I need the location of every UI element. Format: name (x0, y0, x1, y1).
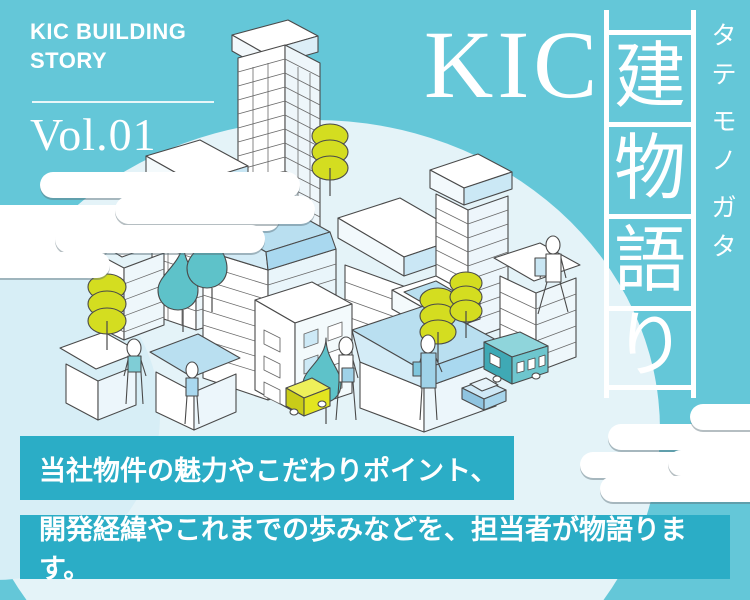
furigana-group: タ テ (702, 24, 746, 88)
furigana-group: ガ タ (702, 196, 746, 260)
title-line-2: STORY (30, 47, 186, 76)
page-title: KIC BUILDING STORY (30, 18, 186, 75)
furigana-char: タ (702, 24, 746, 49)
vertical-title-char: り (609, 302, 691, 390)
volume-label: Vol.01 (30, 108, 157, 161)
cloud-bar (668, 450, 750, 476)
caption-text-2: 開発経緯やこれまでの歩みなどを、担当者が物語ります。 (39, 508, 730, 586)
title-line-1: KIC BUILDING (30, 18, 186, 47)
vertical-title-char: 語 (609, 217, 691, 305)
caption-bar-1: 当社物件の魅力やこだわりポイント、 (20, 436, 514, 500)
caption-bar-2: 開発経緯やこれまでの歩みなどを、担当者が物語ります。 (20, 515, 730, 579)
cloud-bar (600, 476, 750, 502)
cloud-bar (40, 172, 300, 198)
furigana-group: モ ノ (702, 110, 746, 174)
furigana-char: テ (702, 63, 746, 88)
header-divider (32, 101, 214, 103)
kic-logo: KIC (424, 17, 601, 113)
cloud-bar (0, 252, 110, 278)
cloud-bar (690, 404, 750, 430)
caption-text-1: 当社物件の魅力やこだわりポイント、 (39, 449, 497, 488)
furigana-char: ガ (702, 196, 746, 221)
furigana-char: タ (702, 235, 746, 260)
vertical-title-char: 物 (609, 125, 691, 213)
cloud-bar (55, 225, 265, 253)
cloud-bar (115, 196, 315, 224)
kic-building-story-banner: KIC BUILDING STORY Vol.01 KIC 建 物 語 り タ … (0, 0, 750, 600)
vertical-title-frame: 建 物 語 り (604, 10, 696, 398)
furigana-column: タ テ モ ノ ガ タ (702, 24, 746, 282)
vertical-title-char: 建 (609, 33, 691, 121)
frame-rail-right (691, 10, 696, 398)
furigana-char: モ (702, 110, 746, 135)
furigana-char: ノ (702, 149, 746, 174)
